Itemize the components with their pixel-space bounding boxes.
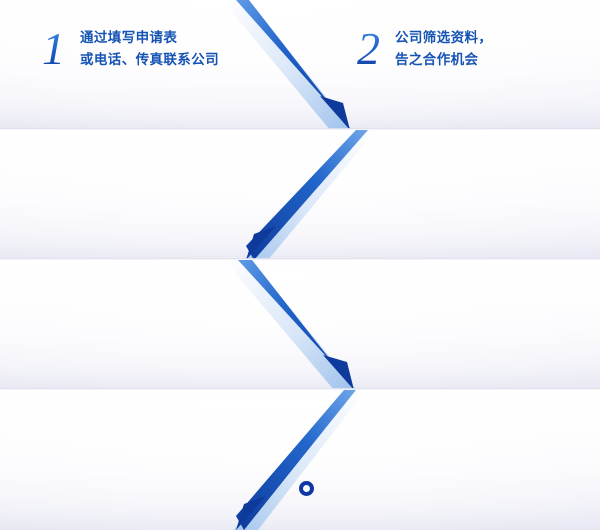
process-band-2: 双方加深接触，实地调研，签 订《加盟意向合作书》 3 根据加盟手册，确定 专卖店… xyxy=(0,130,600,260)
step-1-line-2: 或电话、传真联系公司 xyxy=(80,49,219,71)
band-background xyxy=(0,130,600,260)
step-2-text: 公司筛选资料， 告之合作机会 xyxy=(395,27,492,71)
franchise-process-diagram: 1 通过填写申请表 或电话、传真联系公司 2 公司筛选资料， 告之合作机会 xyxy=(0,0,600,530)
step-1-text: 通过填写申请表 或电话、传真联系公司 xyxy=(80,27,219,71)
step-2-line-2: 告之合作机会 xyxy=(395,49,492,71)
band-background xyxy=(0,260,600,390)
step-1-line-1: 通过填写申请表 xyxy=(80,27,219,49)
band-background xyxy=(0,390,600,530)
step-2-line-1: 公司筛选资料， xyxy=(395,27,492,49)
step-2-number: 2 xyxy=(355,26,381,72)
ring-mark-icon xyxy=(299,481,314,496)
process-band-4: 正式开业前，公司区域经理 负责指导开业前的各类事务 7 8 通过装修验收的专卖店… xyxy=(0,390,600,530)
process-band-1: 1 通过填写申请表 或电话、传真联系公司 2 公司筛选资料， 告之合作机会 xyxy=(0,0,600,130)
step-2: 2 公司筛选资料， 告之合作机会 xyxy=(355,26,492,72)
step-1-number: 1 xyxy=(40,26,66,72)
step-1: 1 通过填写申请表 或电话、传真联系公司 xyxy=(40,26,219,72)
process-band-3: 5 公司设计整套图纸，并由公司 下单装修和配套物品 6 提交符合加盟要求的图纸 … xyxy=(0,260,600,390)
